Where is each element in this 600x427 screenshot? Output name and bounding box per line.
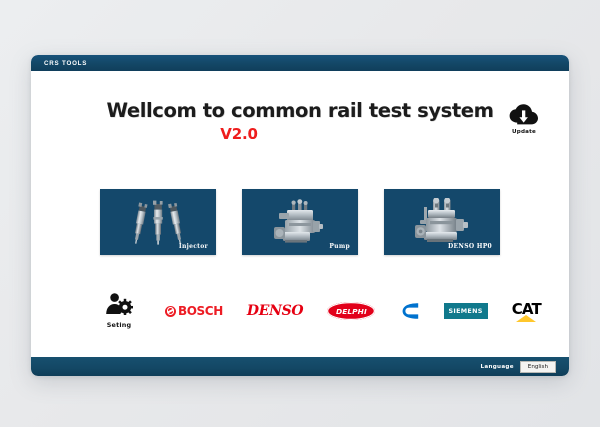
- logo-siemens[interactable]: SIEMENS: [444, 303, 488, 319]
- setting-label: Seting: [93, 321, 145, 329]
- logo-delphi[interactable]: DELPHI: [327, 302, 375, 320]
- delphi-oval-shape: DELPHI: [327, 302, 375, 320]
- update-button[interactable]: Update: [501, 104, 547, 135]
- logo-siemens-text: SIEMENS: [449, 307, 483, 315]
- bottom-row: Seting BOSCH DENSO DELPHI: [31, 293, 569, 329]
- logo-bosch-text: BOSCH: [178, 304, 223, 318]
- product-card-row: Injector: [31, 189, 569, 255]
- cloud-download-icon: [509, 104, 539, 127]
- logo-cat[interactable]: CAT: [512, 301, 541, 322]
- logo-denso-text: DENSO: [247, 303, 303, 319]
- logo-delphi-text: DELPHI: [336, 307, 367, 316]
- card-pump[interactable]: Pump: [242, 189, 358, 255]
- logo-cummins[interactable]: [399, 302, 419, 320]
- footer-bar: Language English: [31, 357, 569, 376]
- setting-button[interactable]: Seting: [93, 293, 145, 329]
- heading-block: Wellcom to common rail test system V2.0: [31, 101, 569, 142]
- version-badge: V2.0: [31, 127, 447, 142]
- card-label-denso-hp0: DENSO HP0: [448, 243, 492, 250]
- card-injector[interactable]: Injector: [100, 189, 216, 255]
- bosch-armature-icon: [165, 306, 176, 317]
- page-title: Wellcom to common rail test system: [31, 101, 569, 121]
- user-gear-icon: [105, 293, 133, 315]
- card-label-pump: Pump: [329, 243, 350, 250]
- window-title: CRS TOOLS: [44, 60, 87, 67]
- siemens-box-shape: SIEMENS: [444, 303, 488, 319]
- window-content: Wellcom to common rail test system V2.0 …: [31, 71, 569, 357]
- application-window: CRS TOOLS Wellcom to common rail test sy…: [31, 55, 569, 376]
- card-denso-hp0[interactable]: DENSO HP0: [384, 189, 500, 255]
- brand-logo-strip: BOSCH DENSO DELPHI: [145, 301, 545, 322]
- window-title-bar: CRS TOOLS: [31, 55, 569, 71]
- desktop-background: CRS TOOLS Wellcom to common rail test sy…: [0, 0, 600, 427]
- language-select[interactable]: English: [520, 361, 556, 373]
- logo-bosch[interactable]: BOSCH: [165, 304, 223, 318]
- logo-cat-text: CAT: [512, 300, 541, 318]
- card-label-injector: Injector: [179, 243, 208, 250]
- logo-denso[interactable]: DENSO: [247, 303, 303, 319]
- update-label: Update: [501, 129, 547, 135]
- cummins-c-icon: [399, 302, 419, 320]
- language-label: Language: [481, 364, 514, 370]
